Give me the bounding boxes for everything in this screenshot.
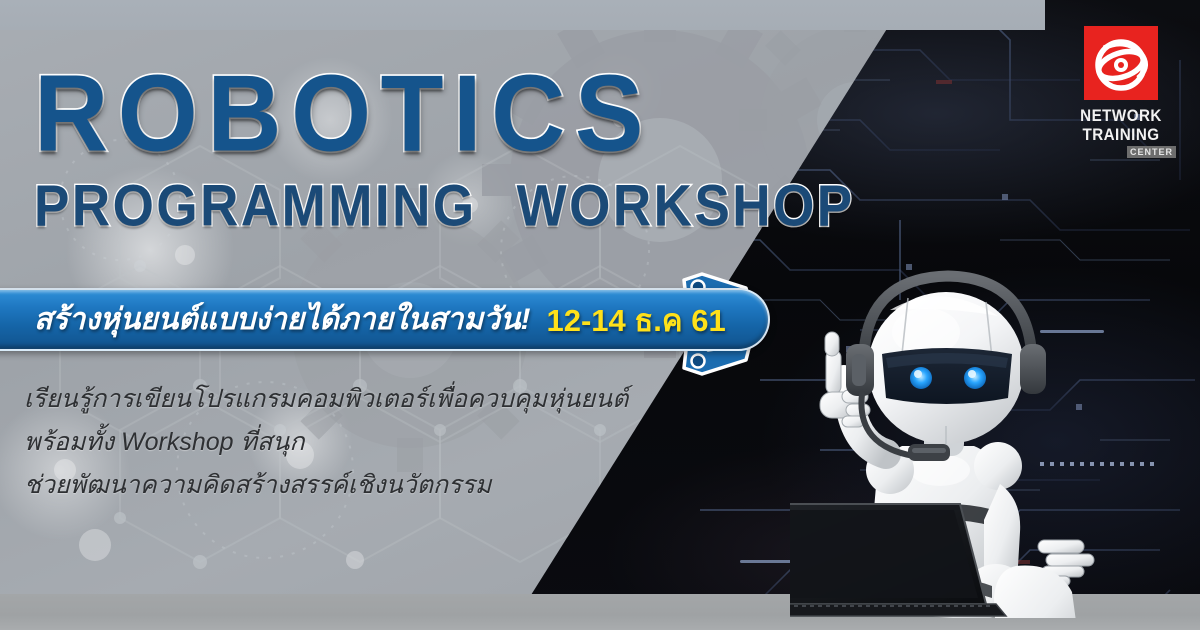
- body-line-1: เรียนรู้การเขียนโปรแกรมคอมพิวเตอร์เพื่อค…: [24, 378, 704, 421]
- body-copy-group: เรียนรู้การเขียนโปรแกรมคอมพิวเตอร์เพื่อค…: [24, 378, 704, 507]
- robot-with-laptop-illustration: [790, 258, 1190, 618]
- page-title: ROBOTICS: [34, 62, 988, 164]
- body-line-2: พร้อมทั้ง Workshop ที่สนุก: [24, 421, 704, 464]
- top-edge-band: [0, 0, 1045, 30]
- robotics-workshop-banner: ROBOTICS PROGRAMMING WORKSHOP สร้างหุ่นย…: [0, 0, 1200, 630]
- subtitle-programming: PROGRAMMING: [34, 173, 477, 240]
- headline-group: ROBOTICS PROGRAMMING WORKSHOP: [34, 62, 934, 240]
- globe-sphere-icon: [1084, 26, 1158, 100]
- promo-ribbon: สร้างหุ่นยนต์แบบง่ายได้ภายในสามวัน! 12-1…: [0, 288, 770, 351]
- logo-sub-text: CENTER: [1127, 146, 1176, 158]
- subtitle-workshop: WORKSHOP: [517, 173, 855, 240]
- logo-name-text: NETWORK TRAINING: [1065, 107, 1177, 145]
- body-line-3: ช่วยพัฒนาความคิดสร้างสรรค์เชิงนวัตกรรม: [24, 464, 704, 507]
- network-training-center-logo[interactable]: NETWORK TRAINING CENTER: [1060, 26, 1182, 158]
- subtitle-row: PROGRAMMING WORKSHOP: [34, 179, 934, 240]
- ribbon-headline-text: สร้างหุ่นยนต์แบบง่ายได้ภายในสามวัน!: [34, 296, 530, 343]
- ribbon-date-text: 12-14 ธ.ค 61: [546, 295, 725, 345]
